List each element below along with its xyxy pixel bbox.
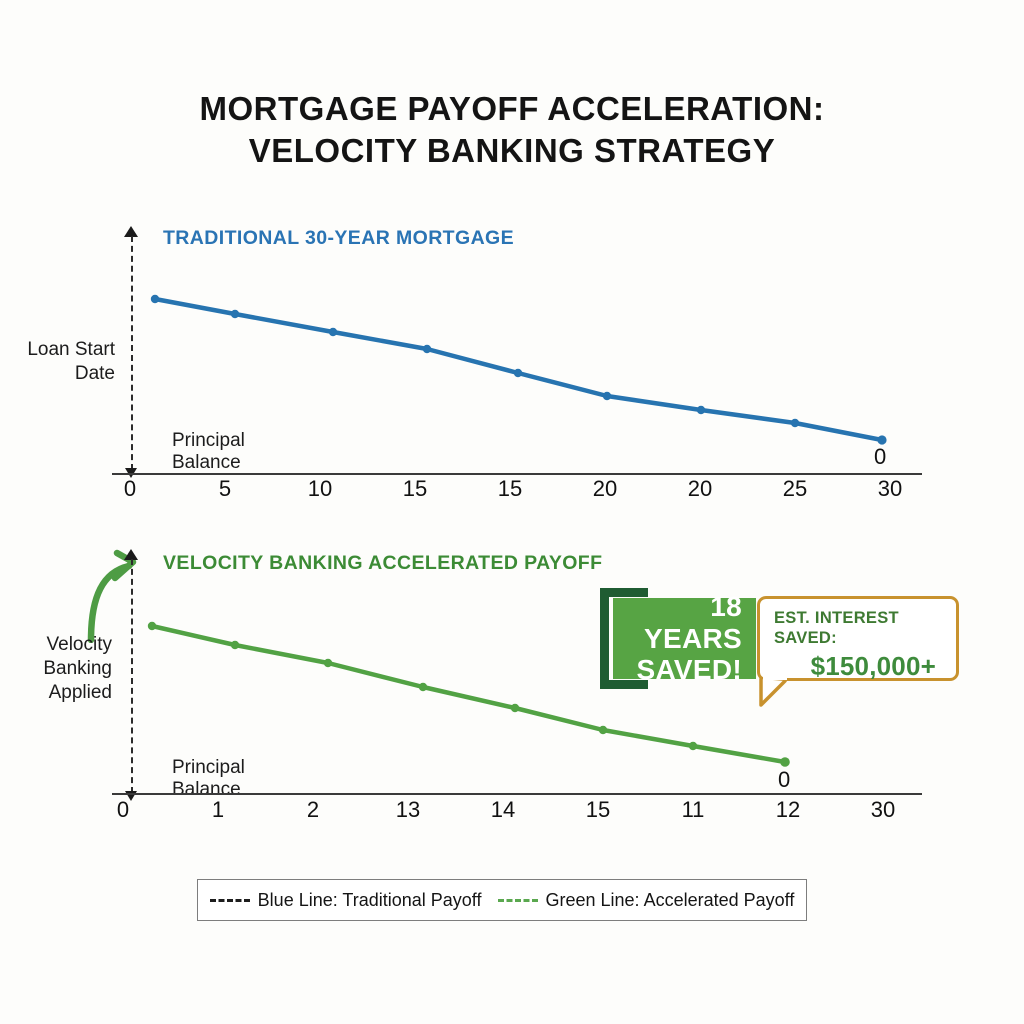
chart2-x-tick-row: 0 1 2 13 14 15 11 12 30 bbox=[103, 797, 903, 823]
years-saved-line2: SAVED! bbox=[625, 654, 742, 685]
chart1-y-axis-label-line1: Loan Start bbox=[0, 338, 115, 362]
interest-saved-title-line2: SAVED: bbox=[774, 629, 942, 649]
bubble-tail-icon bbox=[755, 677, 815, 717]
chart2-tick: 2 bbox=[293, 797, 333, 823]
chart1-tick: 15 bbox=[490, 476, 530, 502]
chart1-tick: 25 bbox=[775, 476, 815, 502]
chart2-tick: 13 bbox=[388, 797, 428, 823]
interest-saved-title: EST. INTEREST SAVED: bbox=[774, 609, 942, 649]
legend-dash-blue-icon bbox=[210, 899, 250, 902]
chart1-end-value: 0 bbox=[874, 444, 886, 470]
chart2-tick: 14 bbox=[483, 797, 523, 823]
chart1-tick: 20 bbox=[680, 476, 720, 502]
chart2-tick: 15 bbox=[578, 797, 618, 823]
legend-label-accelerated: Green Line: Accelerated Payoff bbox=[546, 890, 795, 911]
legend-label-traditional: Blue Line: Traditional Payoff bbox=[258, 890, 482, 911]
interest-saved-bubble: EST. INTEREST SAVED: $150,000+ bbox=[757, 596, 959, 681]
chart2-tick: 30 bbox=[863, 797, 903, 823]
chart1-tick: 30 bbox=[870, 476, 910, 502]
chart1-vertical-axis bbox=[131, 236, 133, 470]
interest-saved-title-line1: EST. INTEREST bbox=[774, 609, 942, 629]
chart2-y-axis-label-line1: Velocity bbox=[0, 633, 112, 657]
page-title: MORTGAGE PAYOFF ACCELERATION: VELOCITY B… bbox=[0, 88, 1024, 172]
chart2-tick: 0 bbox=[103, 797, 143, 823]
chart1-tick: 5 bbox=[205, 476, 245, 502]
chart1-plot bbox=[140, 285, 930, 485]
page-title-line2: VELOCITY BANKING STRATEGY bbox=[0, 130, 1024, 172]
chart2-x-axis bbox=[112, 793, 922, 795]
chart2-end-value: 0 bbox=[778, 767, 790, 793]
chart1-tick: 20 bbox=[585, 476, 625, 502]
chart1-tick: 10 bbox=[300, 476, 340, 502]
legend-dash-green-icon bbox=[498, 899, 538, 902]
chart1-tick: 0 bbox=[110, 476, 150, 502]
chart2-vertical-axis bbox=[131, 559, 133, 793]
chart1-x-tick-row: 0 5 10 15 15 20 20 25 30 bbox=[110, 476, 910, 502]
chart2-tick: 1 bbox=[198, 797, 238, 823]
chart2-tick: 12 bbox=[768, 797, 808, 823]
page-title-line1: MORTGAGE PAYOFF ACCELERATION: bbox=[200, 90, 825, 127]
infographic-canvas: MORTGAGE PAYOFF ACCELERATION: VELOCITY B… bbox=[0, 0, 1024, 1024]
years-saved-text: 18 YEARS SAVED! bbox=[625, 591, 742, 685]
chart1-tick: 15 bbox=[395, 476, 435, 502]
legend-item-traditional: Blue Line: Traditional Payoff bbox=[210, 890, 482, 911]
chart1-y-axis-label: Loan Start Date bbox=[0, 338, 115, 386]
legend-item-accelerated: Green Line: Accelerated Payoff bbox=[498, 890, 795, 911]
chart2-heading: VELOCITY BANKING ACCELERATED PAYOFF bbox=[163, 552, 602, 575]
chart1-y-axis-label-line2: Date bbox=[0, 362, 115, 386]
years-saved-line1: 18 YEARS bbox=[625, 591, 742, 654]
years-saved-badge: 18 YEARS SAVED! bbox=[613, 598, 756, 679]
chart1-heading: TRADITIONAL 30-YEAR MORTGAGE bbox=[163, 227, 514, 250]
chart2-y-axis-label-line3: Applied bbox=[0, 681, 112, 705]
chart2-y-axis-label-line2: Banking bbox=[0, 657, 112, 681]
legend: Blue Line: Traditional Payoff Green Line… bbox=[197, 879, 807, 921]
chart2-tick: 11 bbox=[673, 797, 713, 823]
chart2-y-axis-label: Velocity Banking Applied bbox=[0, 633, 112, 705]
chart1-x-axis bbox=[112, 473, 922, 475]
